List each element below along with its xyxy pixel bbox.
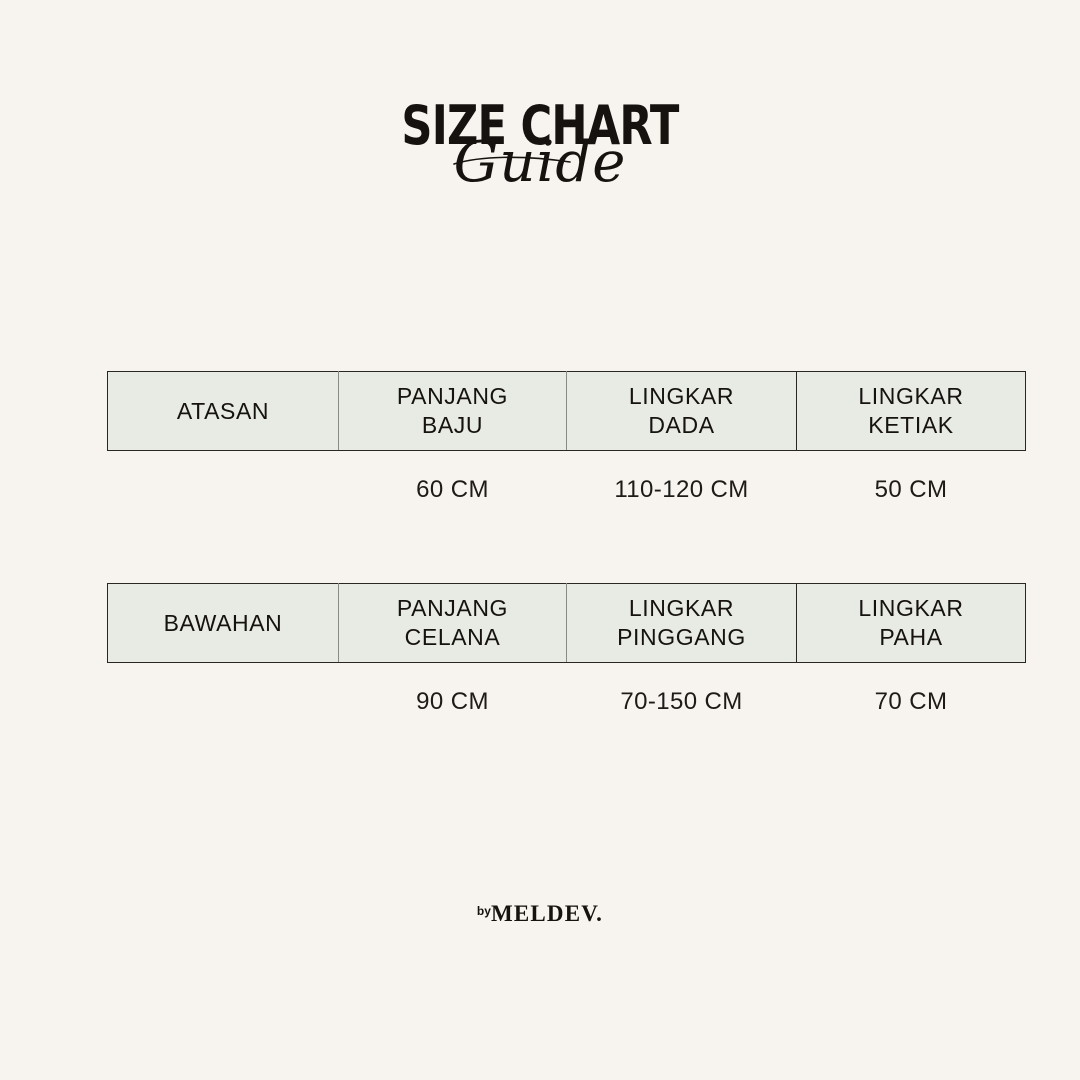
table-header-cell-category: ATASAN <box>108 372 339 451</box>
size-table-atasan-wrap: ATASAN PANJANG BAJU LINGKAR DADA LINGKAR… <box>107 371 973 529</box>
header-line-2: PAHA <box>879 624 942 650</box>
header-line-1: LINGKAR <box>858 383 963 409</box>
brand-logo: byMELDEV. <box>0 901 1080 927</box>
table-header-cell-measure-1: PANJANG BAJU <box>339 372 567 451</box>
header-line-1: LINGKAR <box>629 383 734 409</box>
table-header-cell-measure-2: LINGKAR DADA <box>567 372 797 451</box>
header-line-1: PANJANG <box>397 595 508 621</box>
header-line-2: CELANA <box>405 624 501 650</box>
size-table-atasan: ATASAN PANJANG BAJU LINGKAR DADA LINGKAR… <box>107 371 1026 529</box>
brand-name: MELDEV. <box>491 901 603 926</box>
brand-by-label: by <box>477 904 491 918</box>
table-header-cell-measure-3: LINGKAR KETIAK <box>797 372 1026 451</box>
header-line-2: BAJU <box>422 412 483 438</box>
page-title: SIZE CHART Guide <box>0 98 1080 218</box>
table-value-cell-measure-3: 70 CM <box>797 663 1026 742</box>
table-value-cell-measure-1: 60 CM <box>339 451 567 530</box>
header-line-2: DADA <box>648 412 714 438</box>
table-value-cell-measure-3: 50 CM <box>797 451 1026 530</box>
table-value-cell-measure-2: 70-150 CM <box>567 663 797 742</box>
header-line-1: LINGKAR <box>629 595 734 621</box>
table-header-cell-measure-3: LINGKAR PAHA <box>797 584 1026 663</box>
header-line-1: LINGKAR <box>858 595 963 621</box>
header-line-1: ATASAN <box>177 398 269 424</box>
header-line-1: PANJANG <box>397 383 508 409</box>
size-chart-page: SIZE CHART Guide ATASAN PANJANG BAJU LIN… <box>0 0 1080 1080</box>
table-value-cell-category <box>108 663 339 742</box>
size-table-bawahan: BAWAHAN PANJANG CELANA LINGKAR PINGGANG … <box>107 583 1026 741</box>
size-table-bawahan-wrap: BAWAHAN PANJANG CELANA LINGKAR PINGGANG … <box>107 583 973 741</box>
table-value-cell-measure-1: 90 CM <box>339 663 567 742</box>
table-value-row: 60 CM 110-120 CM 50 CM <box>108 451 1026 530</box>
table-header-cell-measure-2: LINGKAR PINGGANG <box>567 584 797 663</box>
table-header-cell-category: BAWAHAN <box>108 584 339 663</box>
table-value-cell-measure-2: 110-120 CM <box>567 451 797 530</box>
header-line-2: PINGGANG <box>617 624 746 650</box>
header-line-2: KETIAK <box>868 412 953 438</box>
table-header-row: BAWAHAN PANJANG CELANA LINGKAR PINGGANG … <box>108 584 1026 663</box>
table-header-row: ATASAN PANJANG BAJU LINGKAR DADA LINGKAR… <box>108 372 1026 451</box>
header-line-1: BAWAHAN <box>164 610 283 636</box>
page-title-script: Guide <box>0 134 1080 192</box>
table-value-row: 90 CM 70-150 CM 70 CM <box>108 663 1026 742</box>
table-header-cell-measure-1: PANJANG CELANA <box>339 584 567 663</box>
table-value-cell-category <box>108 451 339 530</box>
